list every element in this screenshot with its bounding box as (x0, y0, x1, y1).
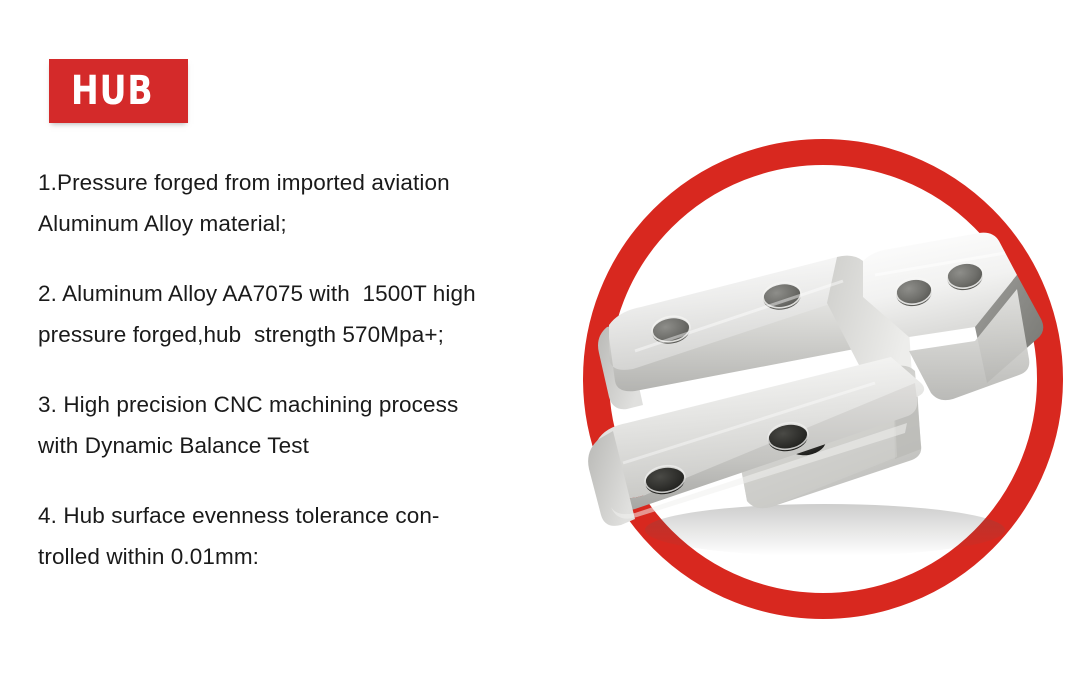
product-figure (575, 125, 1075, 635)
spec-item-2: 2. Aluminum Alloy AA7075 with 1500T high… (38, 273, 583, 355)
red-circle-ring (575, 125, 1075, 635)
spec-item-2-line-2: pressure forged,hub strength 570Mpa+; (38, 314, 583, 355)
spec-item-4-line-1: 4. Hub surface evenness tolerance con- (38, 495, 583, 536)
spec-item-4: 4. Hub surface evenness tolerance con- t… (38, 495, 583, 577)
hub-badge-label: HUB (71, 71, 154, 111)
spec-text-column: HUB 1.Pressure forged from imported avia… (0, 0, 600, 680)
spec-list: 1.Pressure forged from imported aviation… (38, 162, 583, 577)
spec-item-1-line-1: 1.Pressure forged from imported aviation (38, 162, 583, 203)
spec-item-3-line-2: with Dynamic Balance Test (38, 425, 583, 466)
spec-item-3: 3. High precision CNC machining process … (38, 384, 583, 466)
spec-item-2-line-1: 2. Aluminum Alloy AA7075 with 1500T high (38, 273, 583, 314)
spec-item-3-line-1: 3. High precision CNC machining process (38, 384, 583, 425)
hub-badge: HUB (49, 59, 188, 123)
spec-item-4-line-2: trolled within 0.01mm: (38, 536, 583, 577)
spec-item-1: 1.Pressure forged from imported aviation… (38, 162, 583, 244)
spec-item-1-line-2: Aluminum Alloy material; (38, 203, 583, 244)
